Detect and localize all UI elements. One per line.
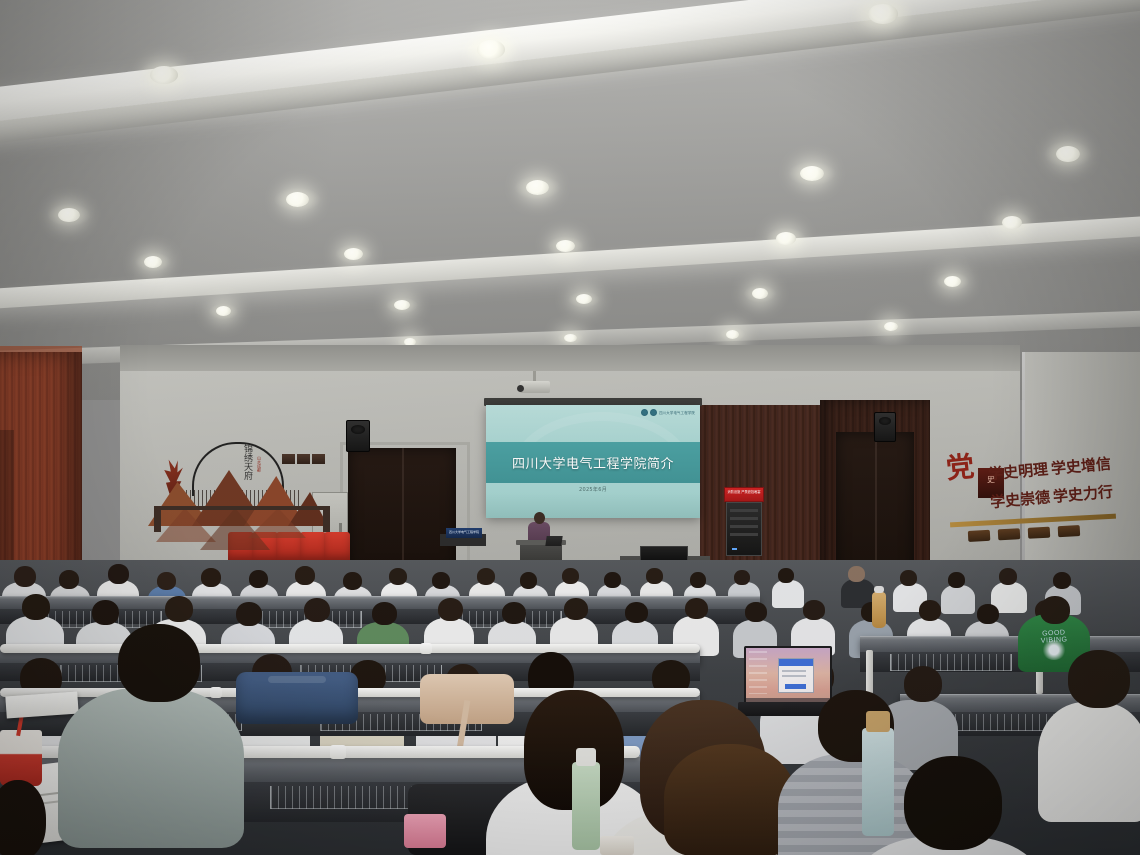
ceiling-downlight-icon bbox=[564, 334, 577, 342]
calligraphy-line-1: 学史明理 学史增信 bbox=[987, 453, 1111, 485]
projection-screen: 四川大学电气工程学院 四川大学电气工程学院简介 2025年6月 bbox=[486, 405, 700, 518]
presenter-head bbox=[534, 512, 545, 524]
projector-lens-icon bbox=[517, 385, 524, 392]
wall-speaker-right bbox=[874, 412, 896, 442]
calligraphy-phrase: 学史增信 bbox=[1050, 453, 1112, 479]
ceiling-downlight-icon bbox=[216, 306, 231, 316]
ceiling-downlight-icon bbox=[726, 330, 739, 339]
university-seal-icon bbox=[641, 409, 648, 416]
front-wall-header bbox=[120, 345, 1020, 371]
calligraphy-line-2: 学史崇德 学史力行 bbox=[989, 481, 1113, 513]
av-rack-sign-text: 消防设施 严禁遮挡堵塞 bbox=[725, 490, 763, 494]
laptop-login-dialog[interactable] bbox=[778, 658, 814, 692]
ceiling-downlight-icon bbox=[556, 240, 575, 252]
wall-mural-right: 党 史 学史明理 学史增信 学史崇德 学史力行 bbox=[944, 424, 1119, 556]
dialog-submit-button[interactable] bbox=[785, 684, 807, 689]
ceiling-downlight-icon bbox=[477, 40, 505, 59]
mural-shelf-bar bbox=[154, 506, 330, 510]
ceiling-downlight-icon bbox=[58, 208, 80, 222]
ceiling-downlight-icon bbox=[1056, 146, 1080, 162]
ceiling-downlight-icon bbox=[576, 294, 592, 304]
paper-cup bbox=[600, 836, 634, 855]
slide-logo: 四川大学电气工程学院 bbox=[641, 409, 695, 416]
thermos-green bbox=[572, 762, 600, 850]
backpack-strap bbox=[268, 676, 326, 683]
ceiling-downlight-icon bbox=[394, 300, 410, 310]
ceiling-downlight-icon bbox=[776, 232, 796, 245]
ceiling-downlight-icon bbox=[868, 4, 898, 24]
mural-calligraphy: 锦绣天府 bbox=[218, 444, 252, 484]
calligraphy-lead-character: 党 bbox=[944, 445, 976, 488]
ceiling-downlight-icon bbox=[752, 288, 768, 299]
door-left[interactable] bbox=[348, 448, 456, 570]
bag-accent-pink bbox=[404, 814, 446, 848]
ceiling-downlight-icon bbox=[884, 322, 898, 331]
slide-organization: 四川大学电气工程学院 bbox=[659, 410, 695, 415]
ceiling-downlight-icon bbox=[286, 192, 309, 207]
ceiling-downlight-icon bbox=[800, 166, 824, 181]
podium-sign: 四川大学电气工程学院 bbox=[446, 528, 482, 538]
ceiling-downlight-icon bbox=[1002, 216, 1022, 229]
ceiling-downlight-icon bbox=[150, 66, 178, 84]
calligraphy-phrase: 学史崇德 bbox=[989, 486, 1051, 512]
calligraphy-phrase: 学史明理 bbox=[987, 458, 1049, 484]
calligraphy-tiles bbox=[968, 525, 1080, 542]
lecture-hall-photo: 四川大学电气工程学院 四川大学电气工程学院简介 2025年6月 锦绣天府 山水成… bbox=[0, 0, 1140, 855]
dialog-titlebar bbox=[779, 659, 813, 666]
laptop-desktop-icons bbox=[749, 651, 767, 694]
drink-cup bbox=[0, 730, 42, 786]
college-emblem-icon bbox=[650, 409, 657, 416]
wall-speaker-left bbox=[346, 420, 370, 452]
slide-title: 四川大学电气工程学院简介 bbox=[486, 442, 700, 483]
mural-subtext: 山水成都 bbox=[256, 456, 262, 472]
mural-plaques bbox=[282, 454, 325, 464]
ceiling-downlight-icon bbox=[526, 180, 549, 195]
water-bottle-amber bbox=[872, 592, 886, 628]
calligraphy-gold-bar bbox=[950, 514, 1116, 528]
wall-mural-left: 锦绣天府 山水成都 bbox=[140, 430, 330, 548]
av-equipment-rack bbox=[726, 502, 762, 556]
ceiling-downlight-icon bbox=[944, 276, 961, 287]
ceiling-downlight-icon bbox=[344, 248, 363, 260]
podium-sign-text: 四川大学电气工程学院 bbox=[446, 530, 482, 534]
lectern-laptop bbox=[545, 536, 562, 546]
ceiling-projector bbox=[520, 381, 550, 393]
av-rack-sign: 消防设施 严禁遮挡堵塞 bbox=[724, 487, 764, 502]
ceiling-downlight-icon bbox=[144, 256, 162, 268]
mural-shelf-bracket bbox=[323, 506, 330, 532]
calligraphy-phrase: 学史力行 bbox=[1052, 481, 1114, 507]
slide-date: 2025年6月 bbox=[486, 486, 700, 493]
mural-shelf-bracket bbox=[154, 506, 161, 532]
slide-campus-silhouette bbox=[486, 493, 700, 518]
thermos-mint bbox=[862, 728, 894, 836]
